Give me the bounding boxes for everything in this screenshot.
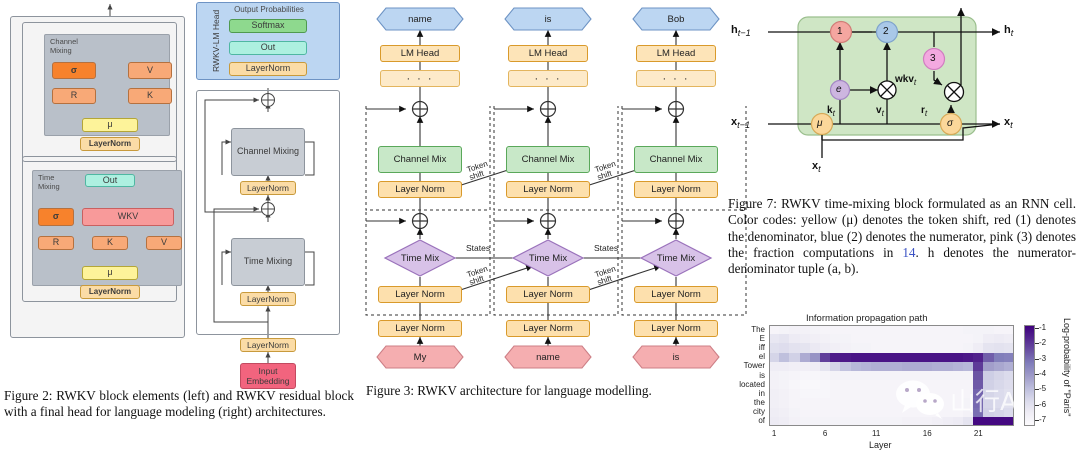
fig2-right-time-layernorm: LayerNorm: [240, 292, 296, 306]
heatmap-y-tick: of: [716, 416, 765, 425]
fig2-channel-mixing-label: ChannelMixing: [50, 38, 94, 55]
figure2-caption: Figure 2: RWKV block elements (left) and…: [4, 388, 354, 421]
heatmap-x-tick: 21: [968, 429, 988, 438]
heatmap-y-tick: Tower: [716, 361, 765, 370]
fig2-time-r: R: [38, 236, 74, 250]
fig2-time-mu: μ: [82, 266, 138, 280]
heatmap-y-tick: the: [716, 398, 765, 407]
watermark-text: 山行AI: [950, 382, 1024, 418]
colorbar-tick: -6: [1039, 400, 1046, 409]
fig3-time-mix-2: Time Mix: [646, 250, 706, 266]
figure7-caption: Figure 7: RWKV time-mixing block formula…: [728, 196, 1076, 278]
heatmap-y-tick: is: [716, 371, 765, 380]
fig3-channel-layer-norm-2: Layer Norm: [634, 181, 718, 198]
fig3-token-shift-label-0: Tokenshift: [466, 160, 491, 182]
heatmap-x-tick: 16: [917, 429, 937, 438]
fig2-channel-mu: μ: [82, 118, 138, 132]
colorbar-tick-mark: [1035, 343, 1039, 344]
colorbar-tick-mark: [1035, 389, 1039, 390]
fig2-final-layernorm: LayerNorm: [240, 338, 296, 352]
fig2-channel-mixing-box: Channel Mixing: [231, 128, 305, 176]
fig3-time-mix-0: Time Mix: [390, 250, 450, 266]
fig2-head-side-label: RWKV-LM Head: [211, 10, 221, 72]
heatmap-title: Information propagation path: [806, 313, 927, 324]
fig2-out-box: Out: [229, 41, 307, 55]
fig3-embed-layer-norm-0: Layer Norm: [378, 320, 462, 337]
fig3-channel-mix-2: Channel Mix: [634, 146, 718, 173]
fig2-channel-r: R: [52, 88, 96, 104]
heatmap-y-tick: The: [716, 325, 765, 334]
fig2-time-layernorm: LayerNorm: [80, 285, 140, 299]
colorbar: [1024, 325, 1035, 426]
fig2-time-k: K: [92, 236, 128, 250]
heatmap-x-tick: 11: [866, 429, 886, 438]
fig7-node-mu-label: μ: [817, 118, 822, 129]
fig2-right-channel-layernorm: LayerNorm: [240, 181, 296, 195]
fig2-channel-layernorm: LayerNorm: [80, 137, 140, 151]
figure7-caption-link: 14: [902, 245, 915, 260]
colorbar-tick-mark: [1035, 405, 1039, 406]
colorbar-tick: -2: [1039, 338, 1046, 347]
heatmap-y-tick: E: [716, 334, 765, 343]
colorbar-tick-mark: [1035, 420, 1039, 421]
fig7-x-prev-label: xt−1: [731, 116, 750, 130]
fig2-channel-v: V: [128, 62, 172, 79]
fig7-node-three-label: 3: [930, 53, 936, 64]
fig3-dots-1: · · ·: [508, 70, 588, 87]
colorbar-tick: -1: [1039, 323, 1046, 332]
fig3-dots-2: · · ·: [636, 70, 716, 87]
heatmap-x-tick: 6: [815, 429, 835, 438]
fig3-input-token-1: name: [505, 346, 591, 368]
colorbar-tick: -7: [1039, 415, 1046, 424]
heatmap-y-tick: city: [716, 407, 765, 416]
fig3-dots-0: · · ·: [380, 70, 460, 87]
fig3-embed-layer-norm-2: Layer Norm: [634, 320, 718, 337]
fig2-input-embedding-line1: Input: [259, 366, 278, 376]
fig7-x-in-label: xt: [812, 160, 821, 174]
fig3-token-shift-label-1: Tokenshift: [594, 160, 619, 182]
fig7-h-out-label: ht: [1004, 24, 1013, 38]
fig3-time-layer-norm-0: Layer Norm: [378, 286, 462, 303]
colorbar-tick: -3: [1039, 354, 1046, 363]
colorbar-tick: -5: [1039, 384, 1046, 393]
fig3-channel-mix-0: Channel Mix: [378, 146, 462, 173]
fig3-states-label-0: States: [466, 243, 490, 253]
fig3-channel-layer-norm-1: Layer Norm: [506, 181, 590, 198]
colorbar-tick-mark: [1035, 374, 1039, 375]
heatmap-y-tick: in: [716, 389, 765, 398]
fig3-embed-layer-norm-1: Layer Norm: [506, 320, 590, 337]
figure3-caption: Figure 3: RWKV architecture for language…: [366, 383, 718, 399]
fig3-lm-head-2: LM Head: [636, 45, 716, 62]
fig2-time-sigma: σ: [38, 208, 74, 226]
colorbar-tick-mark: [1035, 359, 1039, 360]
fig3-channel-layer-norm-0: Layer Norm: [378, 181, 462, 198]
fig3-output-token-1: is: [505, 8, 591, 30]
fig2-time-out: Out: [85, 174, 135, 187]
fig2-time-wkv: WKV: [82, 208, 174, 226]
fig3-token-shift-label-2: Tokenshift: [466, 265, 491, 287]
fig2-head-layernorm: LayerNorm: [229, 62, 307, 76]
fig2-channel-sigma: σ: [52, 62, 96, 79]
fig3-token-shift-label-3: Tokenshift: [594, 265, 619, 287]
fig2-time-mixing-box: Time Mixing: [231, 238, 305, 286]
fig3-output-token-2: Bob: [633, 8, 719, 30]
fig7-wkv-label: wkvt: [895, 74, 916, 87]
fig3-input-token-0: My: [377, 346, 463, 368]
heatmap-x-tick: 1: [764, 429, 784, 438]
fig7-h-prev-label: ht−1: [731, 24, 751, 38]
heatmap-y-tick: iff: [716, 343, 765, 352]
fig7-node-e-label: e: [836, 84, 842, 95]
fig2-time-v: V: [146, 236, 182, 250]
heatmap-y-tick: el: [716, 352, 765, 361]
heatmap-xlabel: Layer: [869, 440, 892, 450]
colorbar-title: Log-probability of "Paris": [1062, 318, 1072, 416]
fig2-input-embedding: Input Embedding: [240, 363, 296, 389]
fig7-node-one-label: 1: [837, 26, 843, 37]
fig2-time-mixing-label: TimeMixing: [38, 174, 74, 191]
fig2-softmax-box: Softmax: [229, 19, 307, 33]
fig2-input-embedding-line2: Embedding: [246, 376, 289, 386]
fig7-v-label: vt: [876, 105, 884, 118]
fig7-node-sigma-label: σ: [947, 118, 953, 129]
fig7-x-out-label: xt: [1004, 116, 1013, 130]
colorbar-tick: -4: [1039, 369, 1046, 378]
fig7-node-two-label: 2: [883, 26, 889, 37]
fig7-r-label: rt: [921, 105, 927, 118]
fig3-channel-mix-1: Channel Mix: [506, 146, 590, 173]
fig2-output-probabilities-label: Output Probabilities: [214, 5, 324, 14]
fig7-k-label: kt: [827, 105, 835, 118]
heatmap-y-tick: located: [716, 380, 765, 389]
fig3-lm-head-0: LM Head: [380, 45, 460, 62]
fig3-time-mix-1: Time Mix: [518, 250, 578, 266]
fig2-channel-k: K: [128, 88, 172, 104]
fig3-input-token-2: is: [633, 346, 719, 368]
fig3-lm-head-1: LM Head: [508, 45, 588, 62]
fig3-output-token-0: name: [377, 8, 463, 30]
fig3-time-layer-norm-2: Layer Norm: [634, 286, 718, 303]
figure-page: ChannelMixing σ V R K μ LayerNorm TimeMi…: [0, 0, 1080, 457]
fig3-time-layer-norm-1: Layer Norm: [506, 286, 590, 303]
colorbar-tick-mark: [1035, 328, 1039, 329]
fig3-states-label-1: States: [594, 243, 618, 253]
